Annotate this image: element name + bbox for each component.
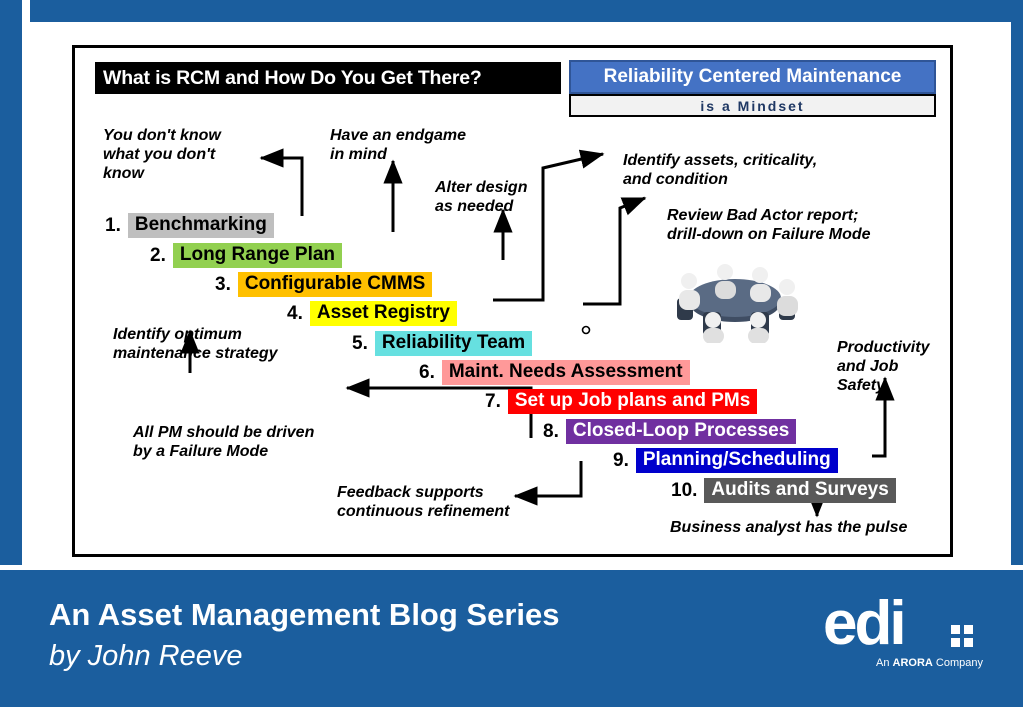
step-10-number: 10. — [671, 480, 697, 502]
step-2[interactable]: 2. Long Range Plan — [150, 243, 342, 268]
step-6-label: Maint. Needs Assessment — [442, 360, 690, 385]
edi-logo-dots — [951, 625, 977, 651]
step-10-label: Audits and Surveys — [704, 478, 895, 503]
team-meeting-photo — [659, 246, 812, 343]
step-9[interactable]: 9. Planning/Scheduling — [613, 448, 838, 473]
diagram-canvas: What is RCM and How Do You Get There? Re… — [72, 45, 953, 557]
step-4[interactable]: 4. Asset Registry — [287, 301, 457, 326]
note-business-analyst: Business analyst has the pulse — [670, 518, 907, 537]
step-5-label: Reliability Team — [375, 331, 532, 356]
step-1-number: 1. — [105, 215, 121, 237]
step-5-number: 5. — [352, 333, 368, 355]
note-dont-know: You don't know what you don't know — [103, 126, 221, 183]
note-identify-assets: Identify assets, criticality, and condit… — [623, 151, 817, 189]
edi-logo: edi An ARORA Company — [823, 593, 983, 679]
step-1-label: Benchmarking — [128, 213, 274, 238]
step-9-label: Planning/Scheduling — [636, 448, 838, 473]
frame-top-band — [0, 0, 1023, 22]
step-3[interactable]: 3. Configurable CMMS — [215, 272, 432, 297]
note-alter-design: Alter design as needed — [435, 178, 527, 216]
step-3-number: 3. — [215, 274, 231, 296]
diagram-title-question: What is RCM and How Do You Get There? — [95, 62, 561, 94]
step-8-number: 8. — [543, 421, 559, 443]
step-10[interactable]: 10. Audits and Surveys — [671, 478, 896, 503]
diagram-subtitle-mindset: is a Mindset — [569, 94, 936, 117]
step-9-number: 9. — [613, 450, 629, 472]
note-endgame: Have an endgame in mind — [330, 126, 466, 164]
step-5[interactable]: 5. Reliability Team — [352, 331, 532, 356]
step-4-number: 4. — [287, 303, 303, 325]
step-4-label: Asset Registry — [310, 301, 457, 326]
step-8-label: Closed-Loop Processes — [566, 419, 796, 444]
step-8[interactable]: 8. Closed-Loop Processes — [543, 419, 796, 444]
step-1[interactable]: 1. Benchmarking — [105, 213, 274, 238]
step-6[interactable]: 6. Maint. Needs Assessment — [419, 360, 690, 385]
step-6-number: 6. — [419, 362, 435, 384]
footer-byline: by John Reeve — [49, 640, 242, 673]
edi-tagline-brand: ARORA — [893, 657, 933, 669]
step-7-label: Set up Job plans and PMs — [508, 389, 757, 414]
poster-page: What is RCM and How Do You Get There? Re… — [0, 0, 1023, 707]
diagram-title-rcm: Reliability Centered Maintenance — [569, 60, 936, 94]
step-3-label: Configurable CMMS — [238, 272, 433, 297]
edi-logo-tagline: An ARORA Company — [823, 657, 983, 669]
note-all-pm: All PM should be driven by a Failure Mod… — [133, 423, 314, 461]
note-productivity: Productivity and Job Safety — [837, 338, 929, 395]
step-7-number: 7. — [485, 391, 501, 413]
footer-title: An Asset Management Blog Series — [49, 597, 560, 633]
step-2-number: 2. — [150, 245, 166, 267]
edi-tagline-prefix: An — [876, 657, 893, 669]
note-optimum-strategy: Identify optimum maintenance strategy — [113, 325, 278, 363]
step-7[interactable]: 7. Set up Job plans and PMs — [485, 389, 757, 414]
note-feedback: Feedback supports continuous refinement — [337, 483, 509, 521]
step-2-label: Long Range Plan — [173, 243, 342, 268]
note-bad-actor: Review Bad Actor report; drill-down on F… — [667, 206, 871, 244]
edi-tagline-suffix: Company — [933, 657, 983, 669]
